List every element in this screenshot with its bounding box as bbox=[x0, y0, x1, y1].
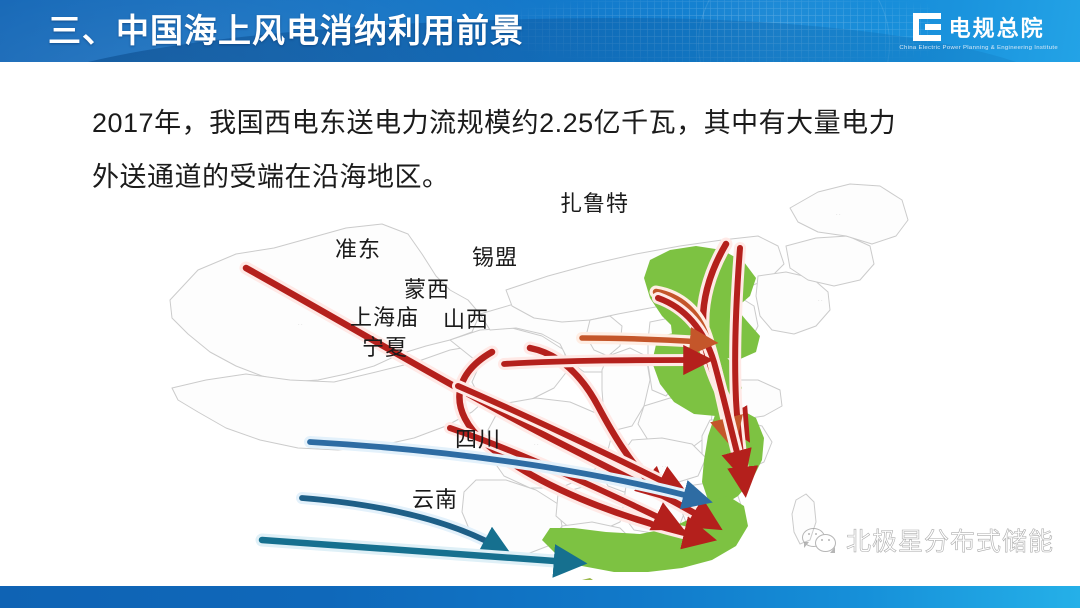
map-label-sichuan: 四川 bbox=[455, 428, 501, 452]
footer-bar bbox=[0, 586, 1080, 608]
watermark-text: 北极星分布式储能 bbox=[846, 522, 1054, 558]
map-label-yunnan: 云南 bbox=[412, 488, 458, 512]
map-label-ningxia: 宁夏 bbox=[362, 336, 408, 360]
map-label-shanxi: 山西 bbox=[443, 308, 489, 332]
body-line-1: 2017年，我国西电东送电力流规模约2.25亿千瓦，其中有大量电力 bbox=[92, 96, 992, 150]
header-dotgrid-decor bbox=[500, 0, 930, 62]
svg-text:· ·: · · bbox=[534, 442, 539, 448]
slide-header: 三、中国海上风电消纳利用前景 电规总院 China Electric Power… bbox=[0, 0, 1080, 62]
wechat-icon bbox=[802, 527, 836, 553]
svg-text:· ·: · · bbox=[298, 322, 303, 328]
company-logo: 电规总院 China Electric Power Planning & Eng… bbox=[899, 8, 1058, 54]
header-globe-decor bbox=[698, 0, 890, 62]
svg-text:· ·: · · bbox=[662, 464, 667, 470]
logo-name-cn: 电规总院 bbox=[949, 11, 1045, 43]
map-label-shanghaimiao: 上海庙 bbox=[350, 306, 419, 330]
slide-canvas: 三、中国海上风电消纳利用前景 电规总院 China Electric Power… bbox=[0, 0, 1080, 608]
map-label-mengxi: 蒙西 bbox=[404, 278, 450, 302]
svg-text:· ·: · · bbox=[818, 298, 823, 304]
map-label-zhundong: 准东 bbox=[335, 238, 381, 262]
watermark: 北极星分布式储能 bbox=[802, 522, 1054, 558]
logo-name-en: China Electric Power Planning & Engineer… bbox=[899, 45, 1058, 51]
map-label-zhalute: 扎鲁特 bbox=[560, 192, 629, 216]
china-power-flow-map: · · · · · · · · · · · · · · · · · · bbox=[150, 150, 940, 580]
map-label-ximeng: 锡盟 bbox=[472, 246, 518, 270]
map-svg: · · · · · · · · · · · · · · · · · · bbox=[150, 150, 940, 580]
company-mark-icon bbox=[913, 13, 941, 41]
svg-text:· ·: · · bbox=[836, 212, 841, 218]
logo-row: 电规总院 bbox=[913, 11, 1045, 43]
map-province-outlines bbox=[170, 184, 908, 568]
page-title: 三、中国海上风电消纳利用前景 bbox=[48, 9, 524, 53]
